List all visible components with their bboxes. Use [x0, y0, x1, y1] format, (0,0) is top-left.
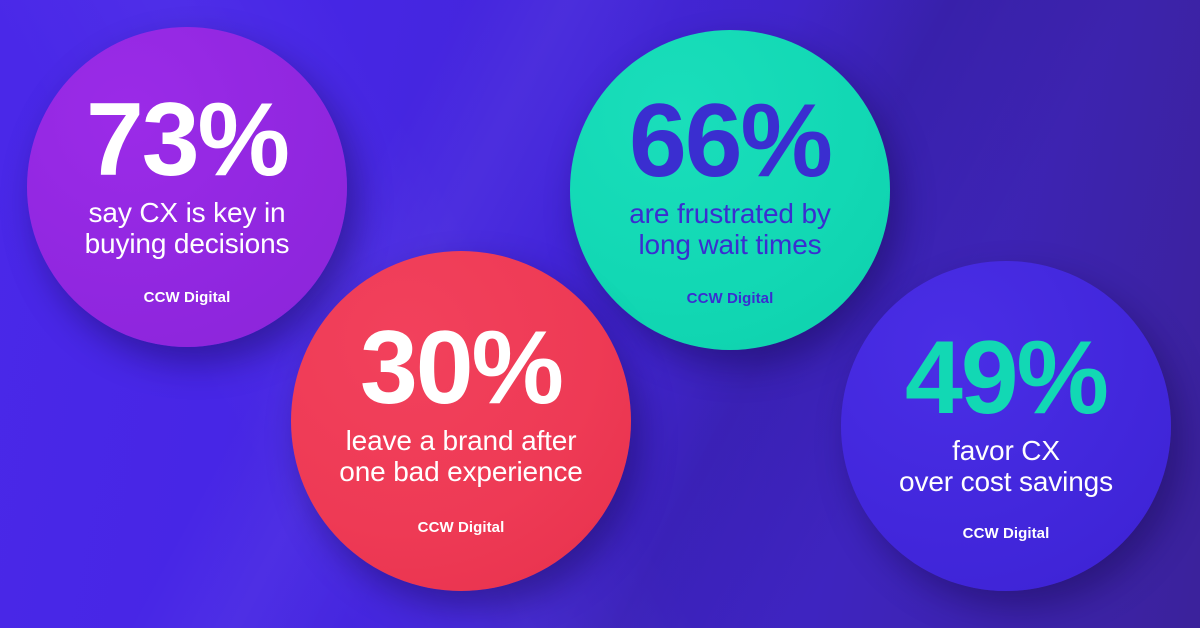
stat-caption-30: leave a brand after one bad experience [339, 425, 582, 488]
brand-label-66: CCW Digital [687, 290, 774, 307]
stat-circle-30: 30% leave a brand after one bad experien… [291, 251, 631, 591]
brand-label-73: CCW Digital [144, 289, 231, 306]
stat-caption-73: say CX is key in buying decisions [85, 197, 290, 260]
stat-circle-49: 49% favor CX over cost savings CCW Digit… [841, 261, 1171, 591]
stat-caption-66: are frustrated by long wait times [629, 198, 831, 261]
brand-label-30: CCW Digital [418, 519, 505, 536]
stat-percent-73: 73% [86, 93, 288, 189]
stat-percent-66: 66% [629, 94, 831, 190]
stat-circle-73: 73% say CX is key in buying decisions CC… [27, 27, 347, 347]
stat-percent-30: 30% [360, 321, 562, 417]
stat-circle-66: 66% are frustrated by long wait times CC… [570, 30, 890, 350]
stat-caption-49: favor CX over cost savings [899, 435, 1113, 498]
brand-label-49: CCW Digital [963, 525, 1050, 542]
infographic-canvas: 73% say CX is key in buying decisions CC… [0, 0, 1200, 628]
stat-percent-49: 49% [905, 331, 1107, 427]
